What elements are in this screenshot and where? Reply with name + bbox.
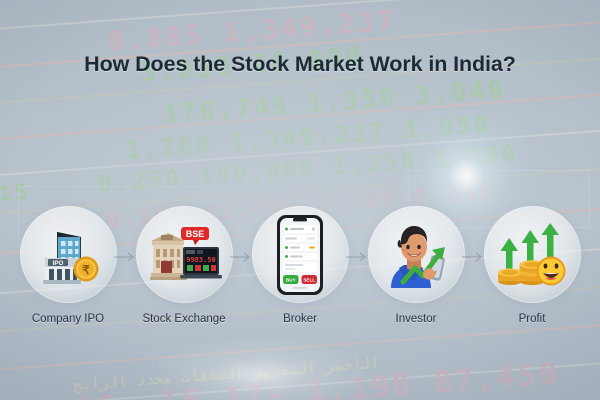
smartphone-trading-app-icon: BUY SELL: [276, 214, 324, 296]
svg-text:₹: ₹: [82, 263, 90, 277]
bse-badge: BSE: [181, 227, 209, 245]
svg-text:IPO: IPO: [53, 260, 64, 267]
flow-step-company-ipo[interactable]: IPO ₹ Company IPO: [14, 206, 122, 325]
page-title: How Does the Stock Market Work in India?: [0, 52, 600, 77]
svg-text:BSE: BSE: [186, 229, 205, 239]
investor-person-phone-growth-arrow-icon: [377, 216, 455, 294]
profit-bubble[interactable]: [484, 206, 581, 303]
coin-stack-small: [498, 268, 522, 285]
svg-text:9983.50: 9983.50: [186, 256, 216, 264]
flow-step-investor[interactable]: Investor: [362, 206, 470, 325]
exchange-building-laptop-icon: 9983.50 BSE: [146, 217, 222, 293]
company-ipo-bubble[interactable]: IPO ₹: [20, 206, 117, 303]
flow-step-label-company-ipo: Company IPO: [32, 313, 104, 325]
svg-text:BUY: BUY: [286, 277, 296, 282]
flow-step-profit[interactable]: Profit: [478, 206, 586, 325]
stock-exchange-bubble[interactable]: 9983.50 BSE: [136, 206, 233, 303]
flow-step-label-stock-exchange: Stock Exchange: [142, 313, 225, 325]
flow-step-broker[interactable]: BUY SELL Broker: [246, 206, 354, 325]
investor-bubble[interactable]: [368, 206, 465, 303]
coin-stacks-up-arrows-smiley-icon: [494, 219, 570, 291]
svg-text:SELL: SELL: [303, 277, 315, 282]
smiley-face-icon: [537, 256, 566, 285]
broker-bubble[interactable]: BUY SELL: [252, 206, 349, 303]
flow-step-label-broker: Broker: [283, 313, 317, 325]
flow-step-label-profit: Profit: [519, 313, 546, 325]
flow-step-label-investor: Investor: [396, 313, 437, 325]
office-building-ipo-rupee-coin-icon: IPO ₹: [31, 218, 105, 292]
slide-canvas: 0.885 1,349,2373.030 20,000176,745 1,950…: [0, 0, 600, 400]
flow-step-stock-exchange[interactable]: 9983.50 BSE Stock Exchange: [130, 206, 238, 325]
process-flow: IPO ₹ Company IPO: [0, 206, 600, 336]
